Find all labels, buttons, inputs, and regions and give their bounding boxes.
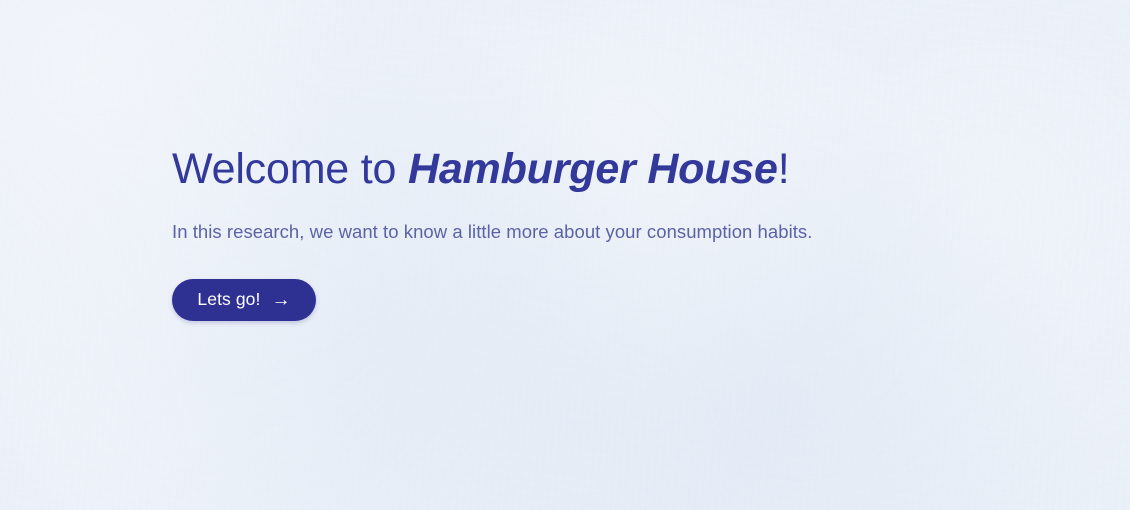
cta-row: Lets go! → [172,245,1032,321]
arrow-right-icon: → [271,290,290,309]
hero-content: Welcome to Hamburger House! In this rese… [172,143,1032,321]
page-title-punctuation: ! [778,145,790,193]
lets-go-button-label: Lets go! [197,291,260,309]
page-subtitle: In this research, we want to know a litt… [172,195,1032,245]
page-title: Welcome to Hamburger House! [172,143,1032,195]
page-title-lead: Welcome to [172,145,408,193]
page-title-brand: Hamburger House [408,145,778,193]
survey-welcome-page: Welcome to Hamburger House! In this rese… [0,0,1130,510]
lets-go-button[interactable]: Lets go! → [172,279,316,321]
